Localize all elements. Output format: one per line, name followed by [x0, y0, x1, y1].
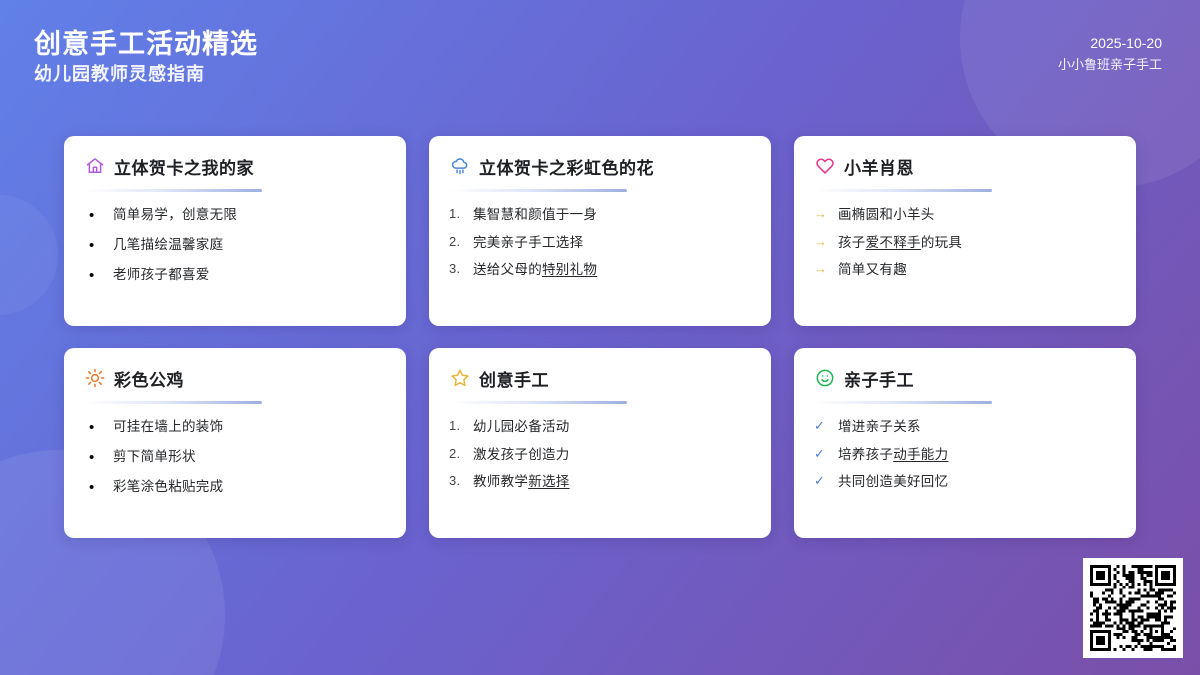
list-item: •老师孩子都喜爱: [84, 265, 386, 287]
list-item-text: 孩子爱不释手的玩具: [838, 233, 962, 253]
list-marker-num: 1.: [449, 205, 473, 224]
card-list: 1.集智慧和颜值于一身2.完美亲子手工选择3.送给父母的特别礼物: [449, 205, 751, 280]
card-title: 亲子手工: [844, 366, 914, 391]
list-item-text: 画椭圆和小羊头: [838, 205, 935, 225]
list-marker-bullet: •: [84, 417, 113, 439]
card-header: 彩色公鸡: [84, 365, 386, 391]
smiley-icon: [814, 368, 835, 389]
activity-card[interactable]: 立体贺卡之彩虹色的花1.集智慧和颜值于一身2.完美亲子手工选择3.送给父母的特别…: [429, 136, 771, 326]
list-item-text: 完美亲子手工选择: [473, 233, 583, 253]
list-item: •彩笔涂色粘贴完成: [84, 477, 386, 499]
list-item-text: 剪下简单形状: [113, 447, 196, 467]
list-marker-check: ✓: [814, 417, 838, 436]
list-item: ✓共同创造美好回忆: [814, 472, 1116, 492]
card-list: 1.幼儿园必备活动2.激发孩子创造力3.教师教学新选择: [449, 417, 751, 492]
list-item: •简单易学，创意无限: [84, 205, 386, 227]
list-item: 2.完美亲子手工选择: [449, 233, 751, 253]
list-item: •剪下简单形状: [84, 447, 386, 469]
list-item: →简单又有趣: [814, 260, 1116, 280]
list-item-text: 培养孩子动手能力: [838, 445, 948, 465]
card-list: •简单易学，创意无限•几笔描绘温馨家庭•老师孩子都喜爱: [84, 205, 386, 286]
list-item-text: 增进亲子关系: [838, 417, 921, 437]
card-list: →画椭圆和小羊头→孩子爱不释手的玩具→简单又有趣: [814, 205, 1116, 280]
date-label: 2025-10-20: [1058, 33, 1162, 55]
activity-card[interactable]: 亲子手工✓增进亲子关系✓培养孩子动手能力✓共同创造美好回忆: [794, 348, 1136, 538]
list-marker-bullet: •: [84, 205, 113, 227]
emphasis-underline: 新选择: [528, 474, 569, 489]
sun-icon: [84, 368, 105, 389]
card-header: 立体贺卡之彩虹色的花: [449, 153, 751, 179]
list-item-text: 共同创造美好回忆: [838, 472, 948, 492]
slide-root: 创意手工活动精选 幼儿园教师灵感指南 2025-10-20 小小鲁班亲子手工 立…: [0, 0, 1200, 675]
emphasis-underline: 动手能力: [893, 447, 948, 462]
list-item: 3.教师教学新选择: [449, 472, 751, 492]
card-grid: 立体贺卡之我的家•简单易学，创意无限•几笔描绘温馨家庭•老师孩子都喜爱立体贺卡之…: [64, 136, 1137, 538]
list-item-text: 幼儿园必备活动: [473, 417, 570, 437]
emphasis-underline: 特别礼物: [542, 262, 597, 277]
card-title-rule: [449, 401, 627, 404]
card-title: 创意手工: [479, 366, 549, 391]
list-item: →孩子爱不释手的玩具: [814, 233, 1116, 253]
qr-code[interactable]: [1083, 558, 1183, 658]
list-marker-bullet: •: [84, 477, 113, 499]
list-item: 2.激发孩子创造力: [449, 445, 751, 465]
list-item: →画椭圆和小羊头: [814, 205, 1116, 225]
list-item-text: 可挂在墙上的装饰: [113, 417, 223, 437]
list-item: •几笔描绘温馨家庭: [84, 235, 386, 257]
list-item: •可挂在墙上的装饰: [84, 417, 386, 439]
activity-card[interactable]: 创意手工1.幼儿园必备活动2.激发孩子创造力3.教师教学新选择: [429, 348, 771, 538]
list-item: 3.送给父母的特别礼物: [449, 260, 751, 280]
card-header: 创意手工: [449, 365, 751, 391]
list-item-text: 激发孩子创造力: [473, 445, 570, 465]
card-header: 小羊肖恩: [814, 153, 1116, 179]
list-item: ✓培养孩子动手能力: [814, 445, 1116, 465]
list-item-text: 集智慧和颜值于一身: [473, 205, 597, 225]
card-title-rule: [449, 189, 627, 192]
list-marker-num: 2.: [449, 233, 473, 252]
cloud-rain-icon: [449, 156, 470, 177]
list-marker-num: 2.: [449, 445, 473, 464]
list-item-text: 几笔描绘温馨家庭: [113, 235, 223, 255]
home-icon: [84, 156, 105, 177]
card-title-rule: [84, 189, 262, 192]
card-title: 立体贺卡之我的家: [114, 154, 254, 179]
qr-code-image: [1090, 565, 1176, 651]
heart-icon: [814, 156, 835, 177]
list-item: 1.幼儿园必备活动: [449, 417, 751, 437]
page-title: 创意手工活动精选: [34, 28, 258, 61]
list-marker-check: ✓: [814, 445, 838, 464]
list-item: 1.集智慧和颜值于一身: [449, 205, 751, 225]
card-list: •可挂在墙上的装饰•剪下简单形状•彩笔涂色粘贴完成: [84, 417, 386, 498]
list-item: ✓增进亲子关系: [814, 417, 1116, 437]
brand-label: 小小鲁班亲子手工: [1058, 55, 1162, 76]
list-item-text: 简单易学，创意无限: [113, 205, 237, 225]
list-marker-arrow: →: [814, 205, 838, 224]
card-title: 彩色公鸡: [114, 366, 184, 391]
card-header: 亲子手工: [814, 365, 1116, 391]
slide-header: 创意手工活动精选 幼儿园教师灵感指南: [34, 28, 258, 88]
list-marker-bullet: •: [84, 235, 113, 257]
list-marker-arrow: →: [814, 260, 838, 279]
card-title-rule: [814, 401, 992, 404]
list-item-text: 简单又有趣: [838, 260, 907, 280]
list-item-text: 教师教学新选择: [473, 472, 570, 492]
list-marker-num: 1.: [449, 417, 473, 436]
list-marker-arrow: →: [814, 233, 838, 252]
list-marker-bullet: •: [84, 265, 113, 287]
activity-card[interactable]: 立体贺卡之我的家•简单易学，创意无限•几笔描绘温馨家庭•老师孩子都喜爱: [64, 136, 406, 326]
list-marker-num: 3.: [449, 260, 473, 279]
list-marker-num: 3.: [449, 472, 473, 491]
card-title: 小羊肖恩: [844, 154, 914, 179]
card-title: 立体贺卡之彩虹色的花: [479, 154, 654, 179]
page-subtitle: 幼儿园教师灵感指南: [34, 61, 258, 88]
star-icon: [449, 368, 470, 389]
card-header: 立体贺卡之我的家: [84, 153, 386, 179]
list-item-text: 老师孩子都喜爱: [113, 265, 210, 285]
activity-card[interactable]: 彩色公鸡•可挂在墙上的装饰•剪下简单形状•彩笔涂色粘贴完成: [64, 348, 406, 538]
card-title-rule: [814, 189, 992, 192]
activity-card[interactable]: 小羊肖恩→画椭圆和小羊头→孩子爱不释手的玩具→简单又有趣: [794, 136, 1136, 326]
list-marker-check: ✓: [814, 472, 838, 491]
list-item-text: 彩笔涂色粘贴完成: [113, 477, 223, 497]
decorative-circle-mid-left: [0, 195, 58, 315]
list-marker-bullet: •: [84, 447, 113, 469]
card-title-rule: [84, 401, 262, 404]
emphasis-underline: 爱不释手: [866, 235, 921, 250]
list-item-text: 送给父母的特别礼物: [473, 260, 597, 280]
slide-meta: 2025-10-20 小小鲁班亲子手工: [1058, 33, 1162, 75]
card-list: ✓增进亲子关系✓培养孩子动手能力✓共同创造美好回忆: [814, 417, 1116, 492]
